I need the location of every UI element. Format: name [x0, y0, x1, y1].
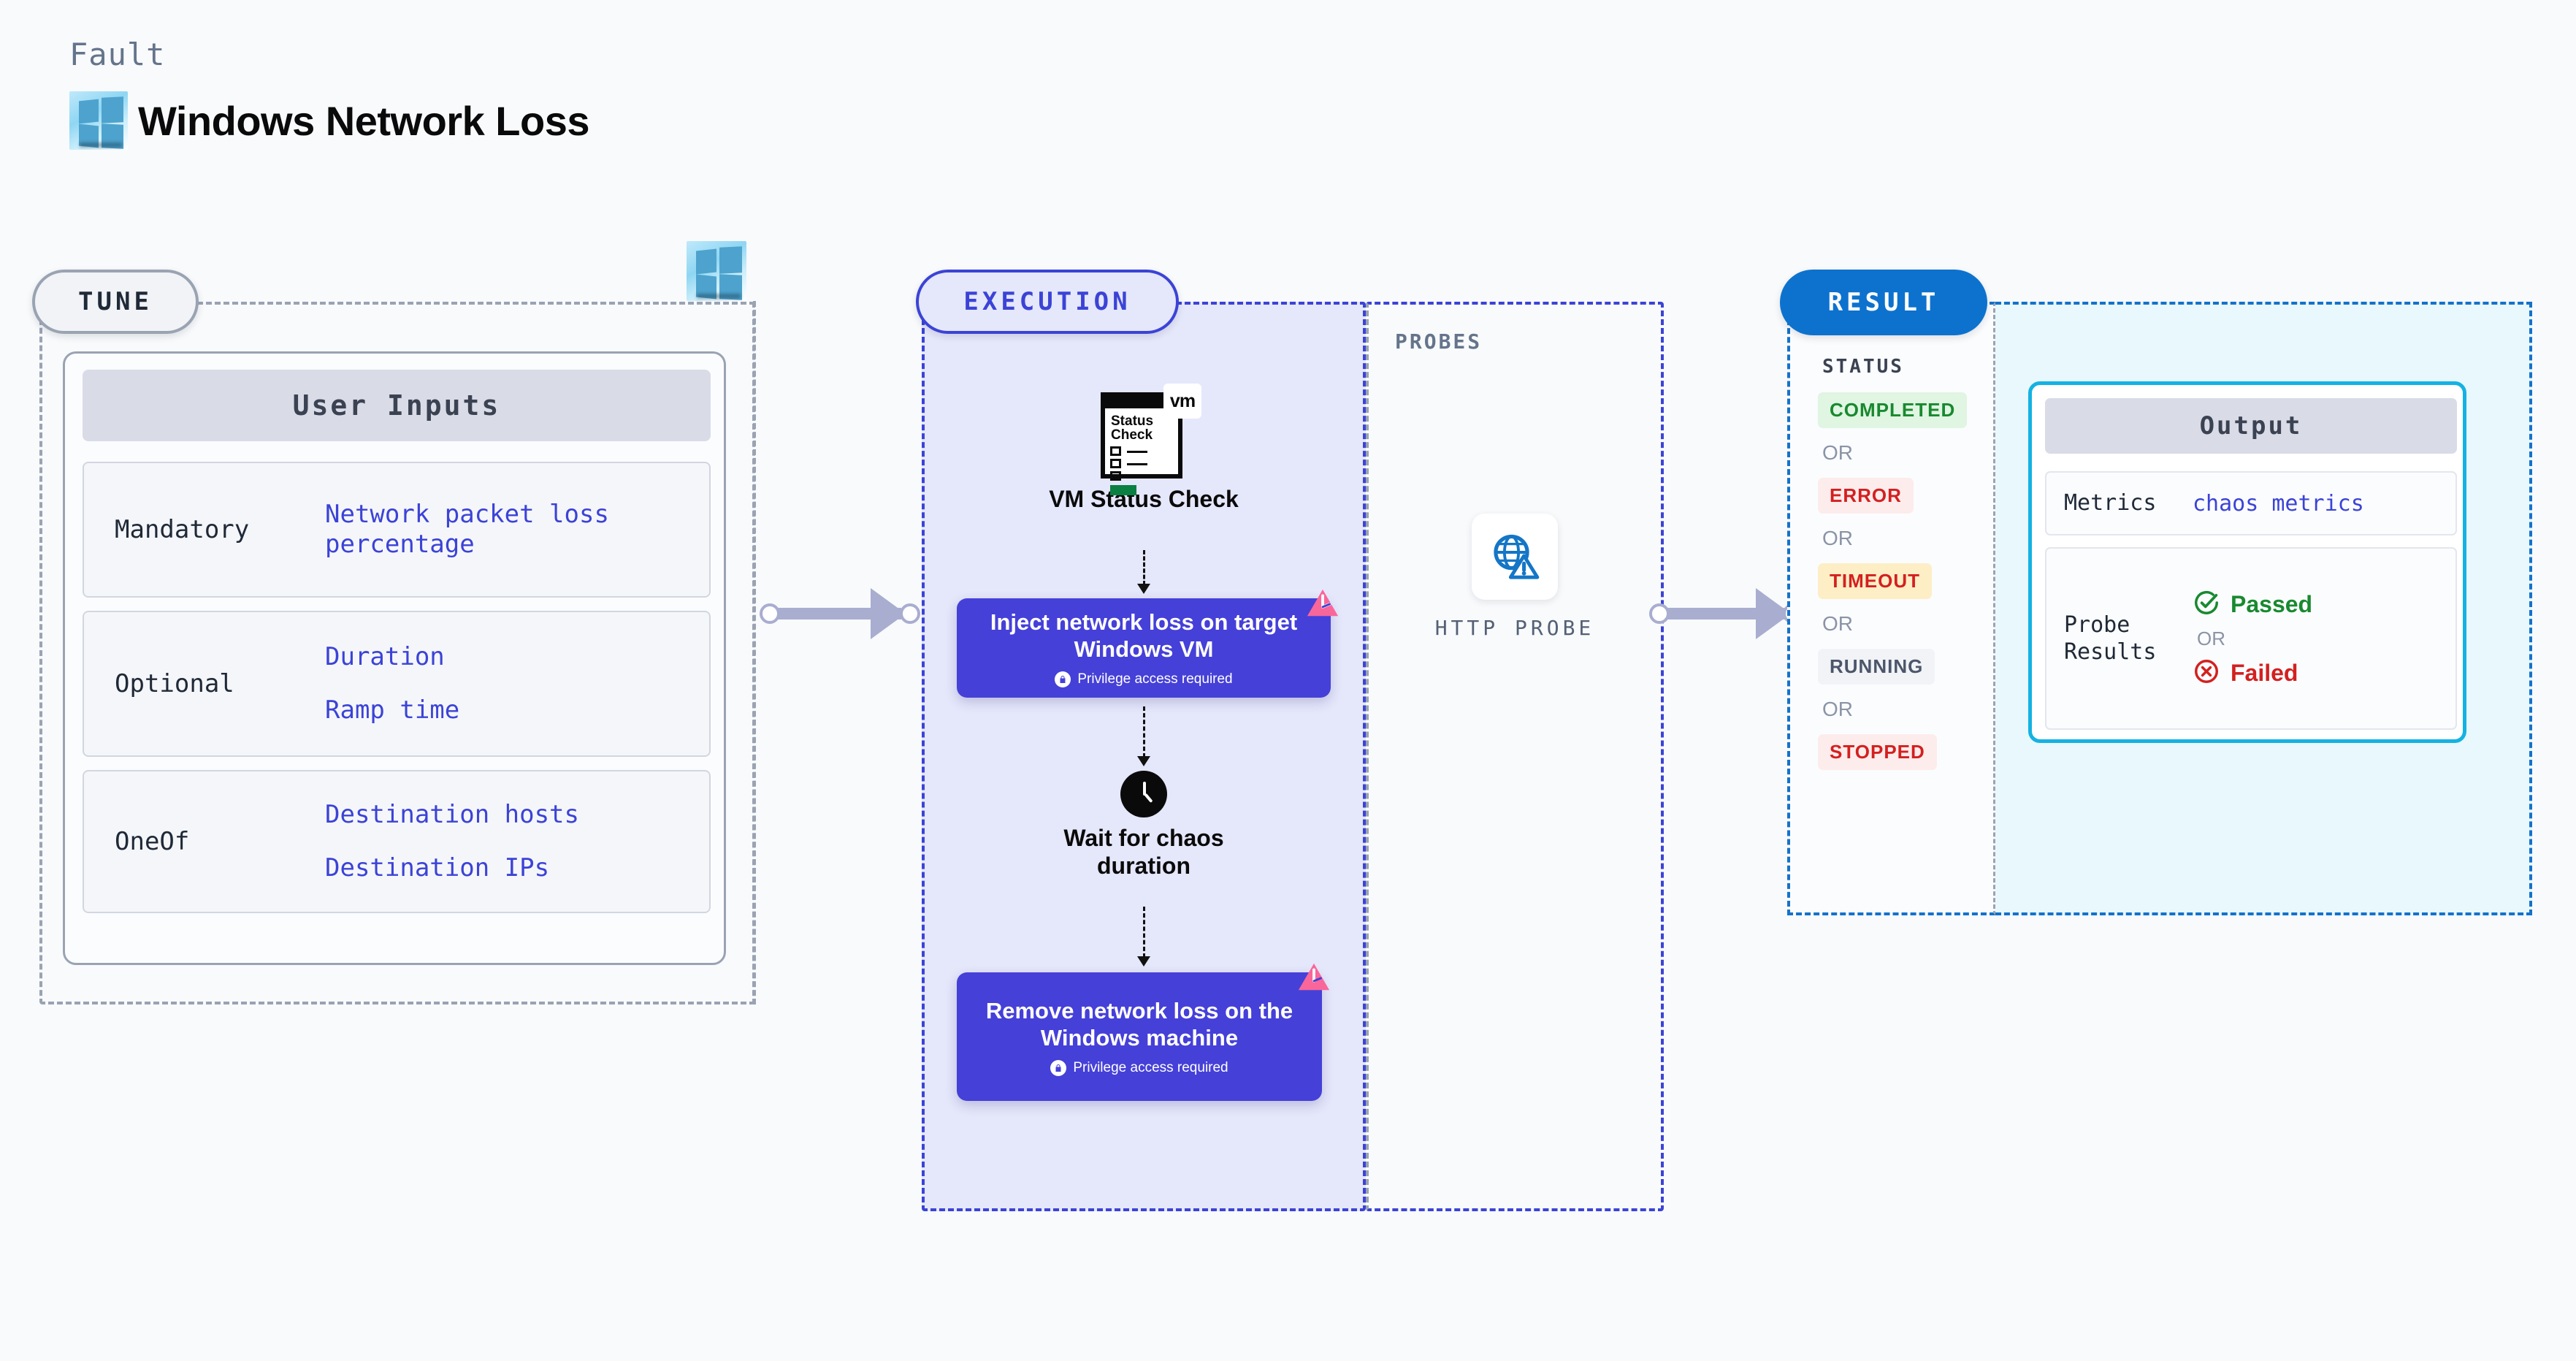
- tune-pill: TUNE: [32, 270, 199, 334]
- probe-result-passed: Passed: [2193, 589, 2312, 620]
- windows-logo-icon: [687, 241, 746, 301]
- vm-badge-icon: vm: [1163, 384, 1201, 419]
- status-or: OR: [1822, 698, 1986, 721]
- execution-section: EXECUTION vm Status Check: [922, 302, 1366, 1211]
- action-card-title: Remove network loss on the Windows machi…: [973, 997, 1306, 1051]
- flow-connector-3: [1143, 907, 1145, 958]
- action-card-note: Privilege access required: [1050, 1060, 1228, 1076]
- input-group-oneof[interactable]: OneOf Destination hosts Destination IPs: [83, 770, 711, 913]
- output-row-label: Metrics: [2046, 489, 2193, 517]
- x-circle-icon: [2193, 657, 2220, 689]
- user-inputs-card: User Inputs Mandatory Network packet los…: [63, 351, 726, 965]
- probes-dashed-border: [1366, 302, 1664, 1211]
- execution-pill: EXECUTION: [916, 270, 1179, 334]
- result-pill: RESULT: [1780, 270, 1987, 335]
- output-row-metrics[interactable]: Metrics chaos metrics: [2045, 471, 2457, 535]
- fault-kicker: Fault: [69, 37, 589, 72]
- status-badge: RUNNING: [1818, 649, 1935, 685]
- input-group-values: Network packet loss percentage: [325, 500, 632, 560]
- input-group-values: Destination hosts Destination IPs: [325, 800, 579, 884]
- probe-label: HTTP PROBE: [1435, 616, 1595, 640]
- status-badge: COMPLETED: [1818, 392, 1967, 428]
- status-badge: TIMEOUT: [1818, 563, 1932, 599]
- flow-arrowhead-2: [1137, 756, 1150, 766]
- probe-failed-text: Failed: [2231, 660, 2298, 687]
- litmus-chaos-icon: [1297, 961, 1331, 998]
- tune-right-dashed-line: [753, 301, 756, 1004]
- output-header: Output: [2045, 398, 2457, 454]
- metrics-value: chaos metrics: [2193, 491, 2364, 516]
- action-card-remove-network-loss[interactable]: Remove network loss on the Windows machi…: [957, 972, 1322, 1101]
- input-group-mandatory[interactable]: Mandatory Network packet loss percentage: [83, 462, 711, 598]
- probe-result-values: Passed OR Failed: [2193, 589, 2312, 689]
- globe-warning-icon: [1472, 514, 1558, 600]
- status-badge: STOPPED: [1818, 734, 1937, 770]
- connector-arrow-execution-to-result: [1649, 588, 1806, 639]
- probe-or-label: OR: [2197, 628, 2312, 650]
- lock-icon: [1050, 1060, 1066, 1076]
- status-or: OR: [1822, 441, 1986, 465]
- connector-arrow-tune-to-execution: [760, 588, 920, 639]
- status-or: OR: [1822, 612, 1986, 636]
- page-header: Fault Windows Network Loss: [69, 37, 589, 150]
- action-card-note: Privilege access required: [1055, 671, 1232, 687]
- action-card-note-text: Privilege access required: [1073, 1060, 1228, 1076]
- input-value: Destination IPs: [325, 853, 579, 883]
- tune-section: TUNE User Inputs Mandatory Network packe…: [39, 302, 755, 1004]
- action-card-title: Inject network loss on target Windows VM: [973, 609, 1315, 663]
- flow-connector-1: [1143, 550, 1145, 585]
- input-value: Ramp time: [325, 695, 459, 725]
- vm-status-check-icon: vm Status Check: [1101, 384, 1187, 479]
- vm-icon-line2: Check: [1111, 427, 1153, 443]
- flow-node-wait-for-chaos-duration[interactable]: Wait for chaos duration: [1014, 771, 1274, 880]
- windows-logo-icon: [69, 91, 128, 150]
- flow-connector-2: [1143, 706, 1145, 758]
- action-card-inject-network-loss[interactable]: Inject network loss on target Windows VM…: [957, 598, 1331, 698]
- input-group-label: Mandatory: [84, 515, 325, 544]
- result-section: Output Metrics chaos metrics Probe Resul…: [1787, 302, 2532, 915]
- flow-node-vm-status-check[interactable]: vm Status Check VM Status Check: [1014, 384, 1274, 514]
- clock-icon: [1120, 771, 1167, 817]
- probe-item-http[interactable]: HTTP PROBE: [1366, 514, 1664, 640]
- flow-arrowhead-3: [1137, 956, 1150, 967]
- lock-icon: [1055, 671, 1071, 687]
- input-group-label: Optional: [84, 669, 325, 698]
- vm-icon-line1: Status: [1111, 413, 1153, 429]
- probes-title: PROBES: [1395, 329, 1482, 354]
- input-value: Network packet loss percentage: [325, 500, 632, 560]
- status-badge: ERROR: [1818, 478, 1914, 514]
- input-group-optional[interactable]: Optional Duration Ramp time: [83, 611, 711, 757]
- node-caption: VM Status Check: [1049, 486, 1239, 514]
- flow-arrowhead-1: [1137, 584, 1150, 594]
- input-value: Destination hosts: [325, 800, 579, 830]
- status-or: OR: [1822, 527, 1986, 550]
- output-card: Output Metrics chaos metrics Probe Resul…: [2028, 381, 2466, 743]
- user-inputs-header: User Inputs: [83, 370, 711, 441]
- input-value: Duration: [325, 642, 459, 672]
- check-circle-icon: [2193, 589, 2220, 620]
- input-group-label: OneOf: [84, 827, 325, 856]
- result-status-column: STATUS COMPLETED OR ERROR OR TIMEOUT OR …: [1787, 302, 1995, 915]
- page-title: Windows Network Loss: [138, 97, 589, 145]
- output-row-label: Probe Results: [2046, 611, 2193, 666]
- result-output-column: Output Metrics chaos metrics Probe Resul…: [1995, 302, 2532, 915]
- status-title: STATUS: [1822, 356, 1904, 378]
- input-group-values: Duration Ramp time: [325, 642, 459, 726]
- node-caption: Wait for chaos duration: [1014, 825, 1274, 880]
- probes-section: PROBES HTTP PROBE: [1366, 302, 1664, 1211]
- fault-title-row: Windows Network Loss: [69, 91, 589, 150]
- action-card-note-text: Privilege access required: [1077, 671, 1232, 687]
- probe-passed-text: Passed: [2231, 591, 2312, 618]
- output-row-probe-results[interactable]: Probe Results Passed OR: [2045, 547, 2457, 730]
- status-list: COMPLETED OR ERROR OR TIMEOUT OR RUNNING…: [1818, 392, 1986, 770]
- probe-result-failed: Failed: [2193, 657, 2312, 689]
- litmus-chaos-icon: [1306, 587, 1339, 624]
